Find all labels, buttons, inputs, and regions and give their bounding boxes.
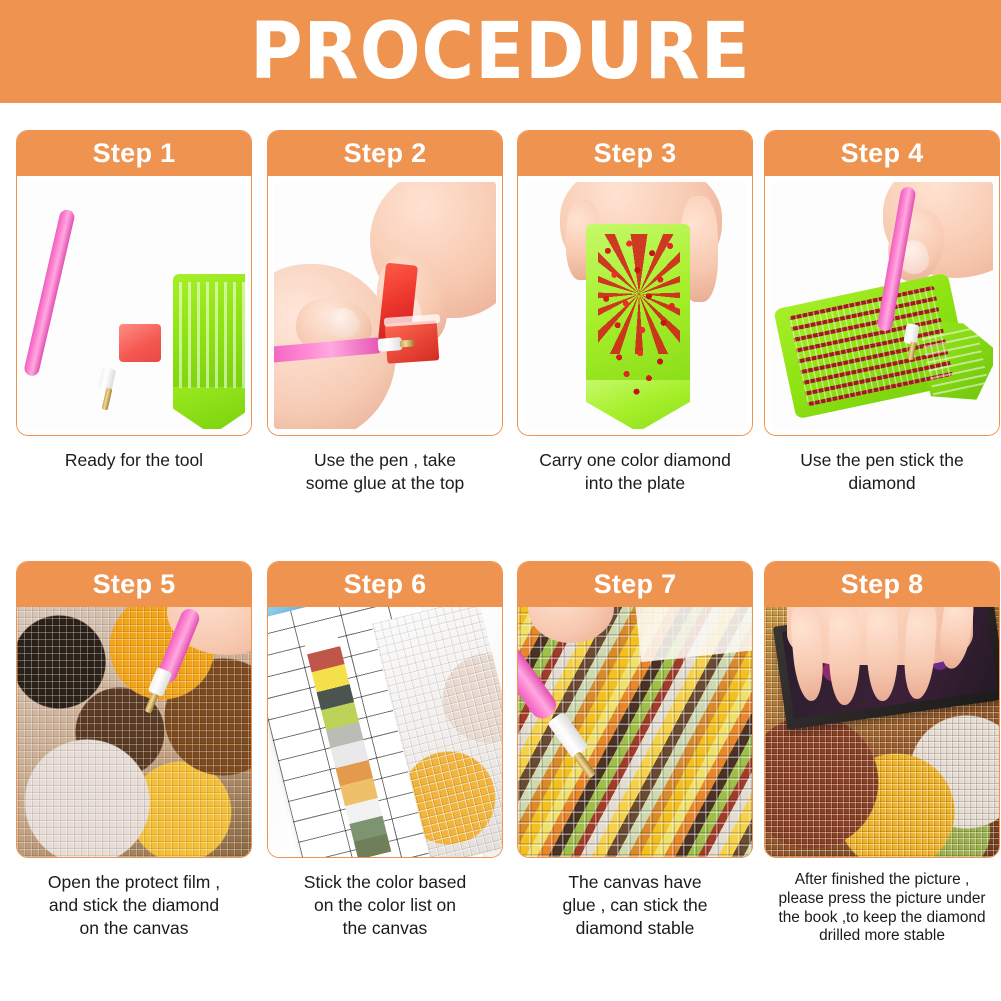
caption-line: please press the picture under (764, 890, 1000, 909)
red-drills-spill (608, 348, 670, 400)
drill-tray-tip-icon (173, 387, 245, 429)
caption-line: diamond (766, 472, 998, 495)
step-illustration-4 (771, 182, 993, 429)
step-card-4: Step 4 (764, 130, 1000, 436)
step-header-8: Step 8 (765, 562, 999, 607)
step-cell-1: Step 1 (16, 130, 252, 472)
caption-line: some glue at the top (269, 472, 501, 495)
tray-grooves (179, 282, 245, 388)
step-photo-6 (268, 607, 502, 857)
step-card-7: Step 7 (517, 561, 753, 858)
step-header-1: Step 1 (17, 131, 251, 176)
step-caption-5: Open the protect film , and stick the di… (16, 871, 252, 939)
step-illustration-7 (518, 607, 752, 857)
step-illustration-8 (765, 607, 999, 857)
step-header-label: Step 8 (841, 571, 924, 598)
caption-line: on the canvas (18, 917, 250, 940)
caption-line: drilled more stable (764, 927, 1000, 946)
caption-line: the canvas (269, 917, 501, 940)
red-drills-cluster (598, 234, 680, 354)
caption-line: and stick the diamond (18, 894, 250, 917)
step-header-label: Step 4 (841, 140, 924, 167)
step-photo-1 (17, 176, 251, 435)
steps-grid: Step 1 (0, 103, 1001, 1001)
caption-line: Open the protect film , (18, 871, 250, 894)
step-caption-6: Stick the color based on the color list … (267, 871, 503, 939)
caption-line: Carry one color diamond (519, 449, 751, 472)
pen-tip-icon (102, 388, 113, 411)
step-header-label: Step 2 (344, 140, 427, 167)
step-illustration-2 (274, 182, 496, 429)
pen-collar-icon (377, 337, 402, 352)
step-header-2: Step 2 (268, 131, 502, 176)
caption-line: on the color list on (269, 894, 501, 917)
step-header-label: Step 5 (93, 571, 176, 598)
pen-body-icon (23, 208, 76, 377)
page-banner: PROCEDURE (0, 0, 1001, 103)
step-illustration-3 (524, 182, 746, 429)
step-card-6: Step 6 (267, 561, 503, 858)
step-caption-7: The canvas have glue , can stick the dia… (517, 871, 753, 939)
caption-line: The canvas have (519, 871, 751, 894)
step-header-7: Step 7 (518, 562, 752, 607)
pen-tip-icon (400, 339, 415, 347)
step-cell-7: Step 7 (517, 561, 753, 939)
caption-line: glue , can stick the (519, 894, 751, 917)
caption-line: the book ,to keep the diamond (764, 909, 1000, 928)
step-header-3: Step 3 (518, 131, 752, 176)
caption-line: Use the pen , take (269, 449, 501, 472)
finger-icon (829, 607, 860, 705)
caption-line: After finished the picture , (764, 871, 1000, 890)
procedure-infographic: PROCEDURE Step 1 (0, 0, 1001, 1001)
step-photo-4 (765, 176, 999, 435)
nail-icon (326, 308, 360, 338)
caption-line: into the plate (519, 472, 751, 495)
step-caption-3: Carry one color diamond into the plate (517, 449, 753, 495)
glue-square-icon (119, 324, 161, 362)
step-card-8: Step 8 (764, 561, 1000, 858)
step-cell-3: Step 3 (517, 130, 753, 495)
caption-line: Ready for the tool (18, 449, 250, 472)
step-photo-5 (17, 607, 251, 857)
step-card-2: Step 2 (267, 130, 503, 436)
step-header-4: Step 4 (765, 131, 999, 176)
step-cell-5: Step 5 O (16, 561, 252, 939)
step-header-label: Step 1 (93, 140, 176, 167)
step-photo-3 (518, 176, 752, 435)
page-title: PROCEDURE (250, 13, 751, 91)
step-card-1: Step 1 (16, 130, 252, 436)
step-caption-8: After finished the picture , please pres… (764, 871, 1000, 946)
step-caption-4: Use the pen stick the diamond (764, 449, 1000, 495)
caption-line: Stick the color based (269, 871, 501, 894)
step-header-6: Step 6 (268, 562, 502, 607)
step-header-label: Step 7 (594, 571, 677, 598)
step-cell-2: Step 2 (267, 130, 503, 495)
step-photo-7 (518, 607, 752, 857)
step-illustration-5 (17, 607, 251, 857)
step-card-5: Step 5 (16, 561, 252, 858)
step-header-label: Step 3 (594, 140, 677, 167)
step-header-label: Step 6 (344, 571, 427, 598)
step-cell-8: Step 8 (764, 561, 1000, 946)
steps-row-bottom: Step 5 O (0, 561, 1001, 1001)
step-photo-2 (268, 176, 502, 435)
step-photo-8 (765, 607, 999, 857)
step-caption-2: Use the pen , take some glue at the top (267, 449, 503, 495)
caption-line: diamond stable (519, 917, 751, 940)
step-cell-6: Step 6 (267, 561, 503, 939)
step-illustration-6 (268, 607, 502, 857)
tray-grooves (922, 327, 989, 395)
finger-icon (867, 607, 898, 701)
step-cell-4: Step 4 (764, 130, 1000, 495)
caption-line: Use the pen stick the (766, 449, 998, 472)
steps-row-top: Step 1 (0, 130, 1001, 563)
step-header-5: Step 5 (17, 562, 251, 607)
step-illustration-1 (23, 182, 245, 429)
step-caption-1: Ready for the tool (16, 449, 252, 472)
step-card-3: Step 3 (517, 130, 753, 436)
